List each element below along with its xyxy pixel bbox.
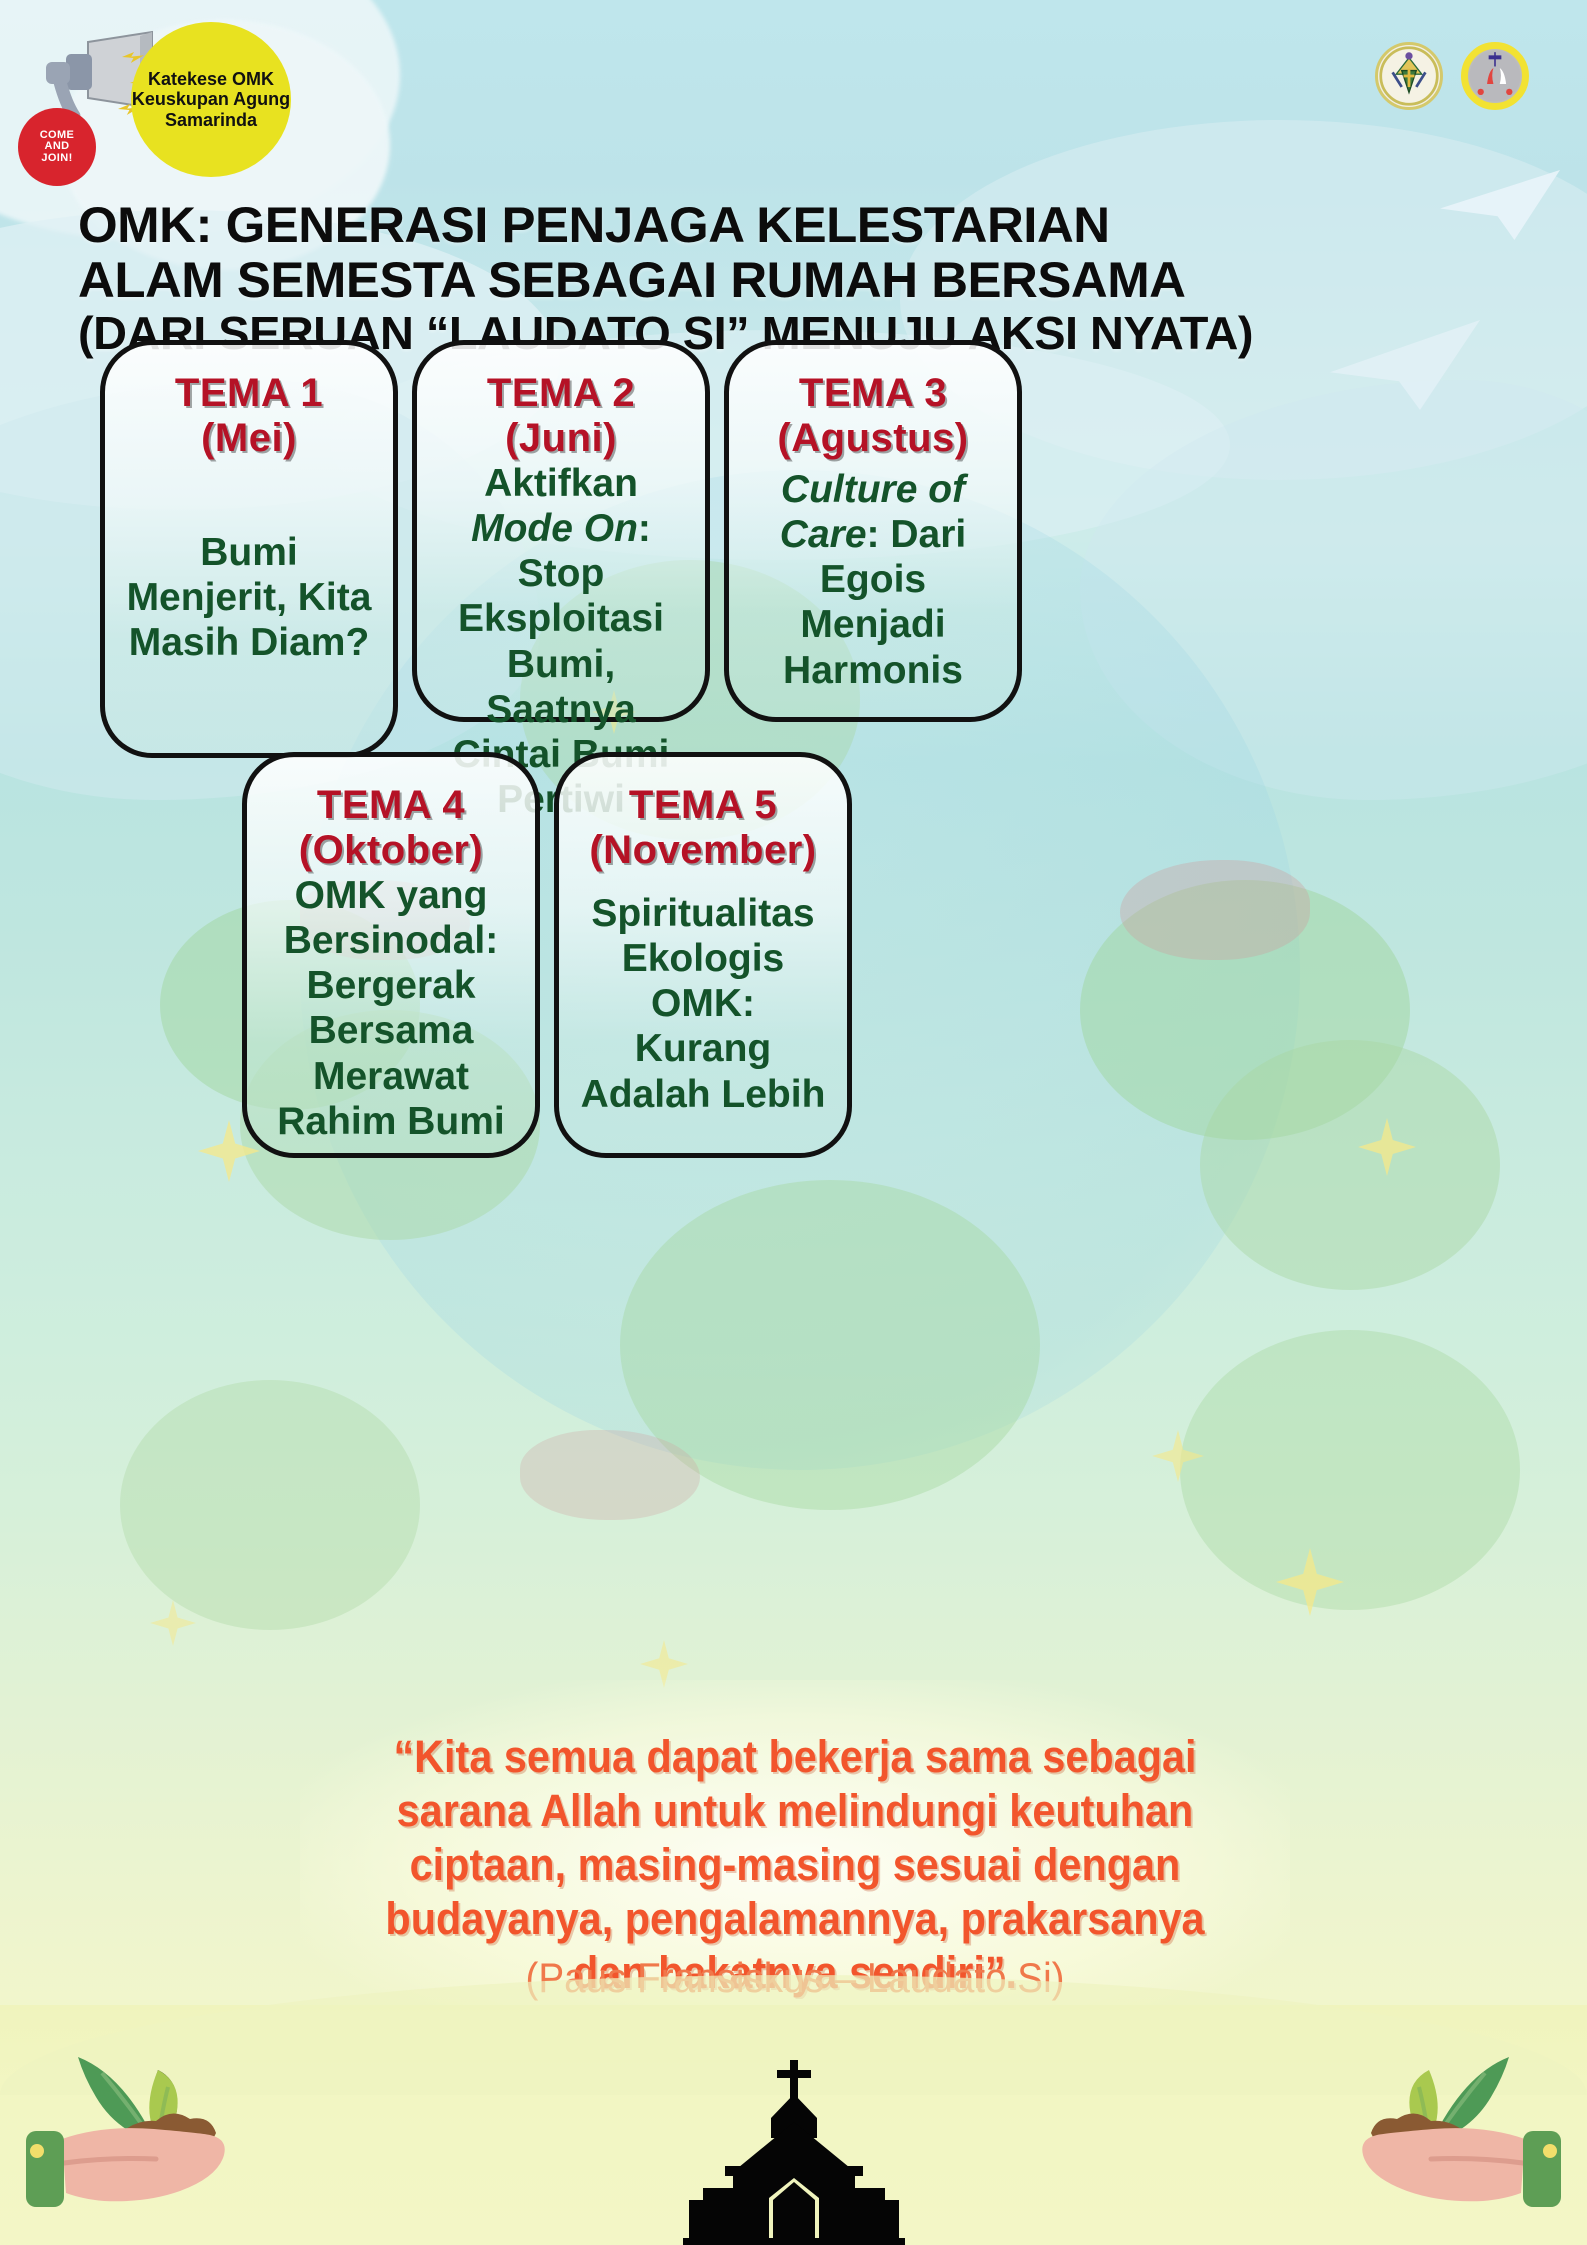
quote-line: budayanya, pengalamannya, prakarsanya [294, 1892, 1297, 1946]
theme-heading-label: TEMA 1 [175, 371, 323, 415]
bird-shape [520, 1430, 700, 1520]
paper-plane-icon [1330, 320, 1480, 410]
theme-month-label: (Oktober) [263, 828, 519, 873]
paper-plane-icon [1440, 170, 1560, 240]
theme-body: Spiritualitas Ekologis OMK: Kurang Adala… [575, 891, 831, 1117]
theme-month-label: (November) [575, 828, 831, 873]
organization-badge: Katekese OMK Keuskupan Agung Samarinda [131, 22, 291, 177]
archdiocese-samarinda-logo [1375, 42, 1443, 110]
page-title: OMK: GENERASI PENJAGA KELESTARIAN ALAM S… [78, 198, 1129, 359]
tree-blob [620, 1180, 1040, 1510]
quote-line: sarana Allah untuk melindungi keutuhan [294, 1784, 1297, 1838]
theme-month-label: (Agustus) [745, 416, 1001, 461]
theme-month-label: (Mei) [121, 416, 377, 461]
poster-root: COME AND JOIN! Katekese OMK Keuskupan Ag… [0, 0, 1587, 2245]
theme-heading: TEMA 1 (Mei) [121, 371, 377, 461]
themes-row-bottom: TEMA 4 (Oktober) OMK yang Bersinodal: Be… [242, 752, 852, 1158]
themes-row-top: TEMA 1 (Mei) Bumi Menjerit, Kita Masih D… [100, 340, 1022, 758]
theme-heading: TEMA 4 (Oktober) [263, 783, 519, 873]
swoosh-shape [1080, 380, 1587, 800]
theme-card-tema-3[interactable]: TEMA 3 (Agustus) Culture of Care: Dari E… [724, 340, 1022, 722]
title-line-2: ALAM SEMESTA SEBAGAI RUMAH BERSAMA [78, 253, 1129, 308]
sparkle-star-icon [640, 1640, 688, 1688]
tree-blob [1080, 880, 1410, 1140]
theme-heading-label: TEMA 2 [487, 371, 635, 415]
sparkle-star-icon [1276, 1548, 1344, 1616]
bird-shape [1120, 860, 1310, 960]
hand-holding-seedling-right [1251, 2035, 1581, 2245]
sparkle-star-icon [1358, 1118, 1416, 1176]
org-line-1: Katekese OMK [148, 69, 274, 89]
theme-heading: TEMA 5 (November) [575, 783, 831, 873]
org-line-2: Keuskupan Agung [132, 89, 290, 109]
theme-heading-label: TEMA 3 [799, 371, 947, 415]
sparkle-star-icon [150, 1600, 196, 1646]
tree-blob [120, 1380, 420, 1630]
hand-holding-seedling-left [6, 2035, 336, 2245]
theme-body: Culture of Care: Dari Egois Menjadi Harm… [745, 467, 1001, 693]
tree-blob [1180, 1330, 1520, 1610]
theme-body: Bumi Menjerit, Kita Masih Diam? [121, 530, 377, 666]
theme-body: OMK yang Bersinodal: Bergerak Bersama Me… [263, 873, 519, 1144]
omk-komisi-kepemudaan-logo [1461, 42, 1529, 110]
sparkle-star-icon [1152, 1430, 1204, 1482]
theme-heading-label: TEMA 5 [629, 783, 777, 827]
quote-line: ciptaan, masing-masing sesuai dengan [294, 1838, 1297, 1892]
quote-line: “Kita semua dapat bekerja sama sebagai [294, 1730, 1297, 1784]
come-and-join-badge: COME AND JOIN! [18, 108, 96, 186]
tree-blob [1200, 1040, 1500, 1290]
theme-heading-label: TEMA 4 [317, 783, 465, 827]
theme-card-tema-1[interactable]: TEMA 1 (Mei) Bumi Menjerit, Kita Masih D… [100, 340, 398, 758]
theme-card-tema-5[interactable]: TEMA 5 (November) Spiritualitas Ekologis… [554, 752, 852, 1158]
theme-card-tema-2[interactable]: TEMA 2 (Juni) Aktifkan Mode On: Stop Eks… [412, 340, 710, 722]
theme-heading: TEMA 2 (Juni) [433, 371, 689, 461]
church-silhouette [659, 2060, 929, 2245]
org-line-3: Samarinda [165, 110, 257, 130]
theme-card-tema-4[interactable]: TEMA 4 (Oktober) OMK yang Bersinodal: Be… [242, 752, 540, 1158]
theme-month-label: (Juni) [433, 416, 689, 461]
theme-heading: TEMA 3 (Agustus) [745, 371, 1001, 461]
badge-line-3: JOIN! [40, 153, 75, 165]
logo-group [1375, 42, 1529, 110]
title-line-1: OMK: GENERASI PENJAGA KELESTARIAN [78, 198, 1129, 253]
